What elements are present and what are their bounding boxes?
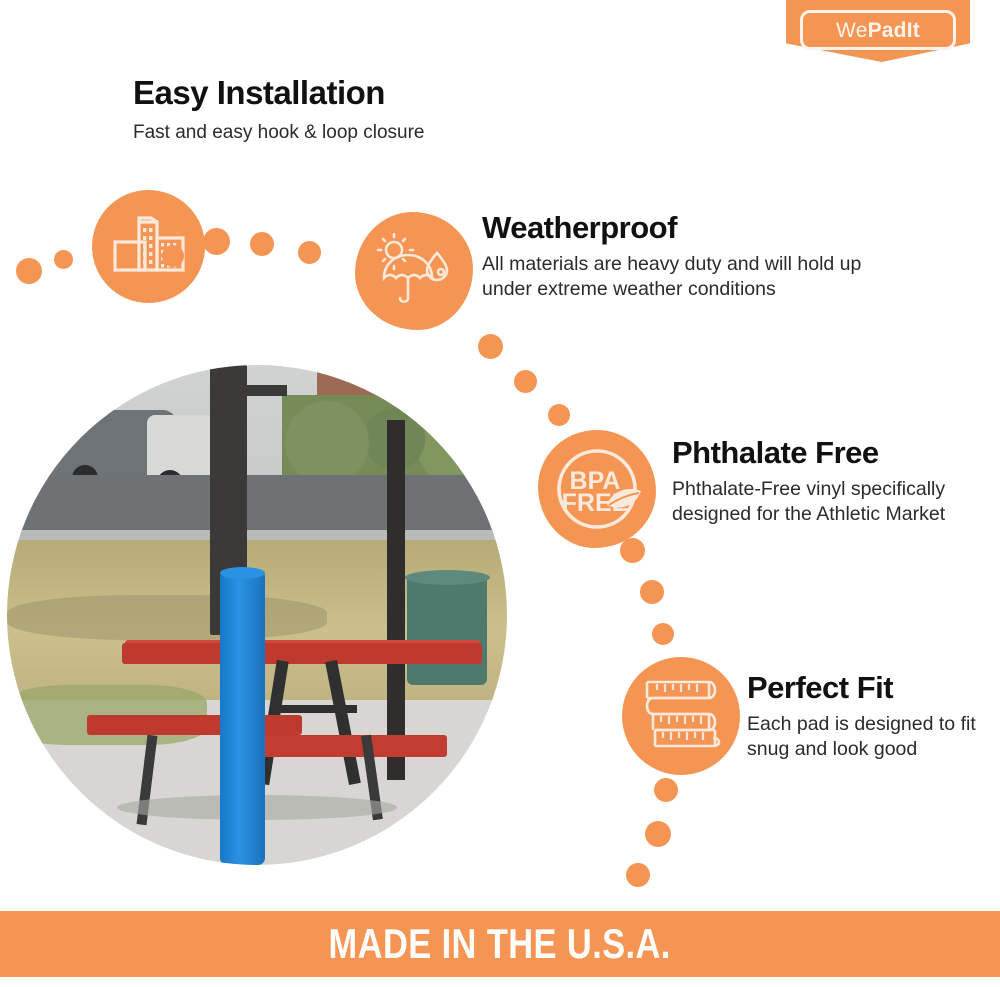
feature-title-phthalate-free: Phthalate Free — [672, 437, 972, 470]
trail-dot — [620, 538, 645, 563]
photo-right-post — [387, 420, 405, 780]
trail-dot — [250, 232, 274, 256]
photo-bench-right — [257, 735, 447, 757]
logo-text: WePadIt — [836, 20, 920, 41]
made-in-usa-banner: MADE IN THE U.S.A. — [0, 911, 1000, 977]
photo-blue-post-pad-top — [220, 567, 265, 579]
buildings-installation-icon — [92, 190, 205, 303]
logo-text-we: We — [836, 19, 868, 42]
photo-dirt-patch — [7, 595, 327, 640]
feature-title-perfect-fit: Perfect Fit — [747, 672, 977, 705]
logo-border-box: WePadIt — [800, 10, 956, 50]
feature-block-easy-installation: Easy Installation Fast and easy hook & l… — [133, 76, 553, 145]
trail-dot — [626, 863, 650, 887]
trail-dot — [54, 250, 73, 269]
trail-dot — [548, 404, 570, 426]
infographic-canvas: WePadIt Easy Installation Fast and easy … — [0, 0, 1000, 987]
trail-dot — [162, 245, 184, 267]
trail-dot — [514, 370, 537, 393]
trail-dot — [298, 241, 321, 264]
photo-bench-left — [87, 715, 302, 735]
feature-block-phthalate-free: Phthalate Free Phthalate-Free vinyl spec… — [672, 437, 972, 528]
trail-dot — [16, 258, 42, 284]
sun-umbrella-raindrop-icon — [355, 212, 473, 330]
trail-dot — [652, 623, 674, 645]
photo-trash-can-rim — [405, 570, 490, 585]
feature-body-phthalate-free: Phthalate-Free vinyl specifically design… — [672, 477, 972, 529]
trail-dot — [654, 778, 678, 802]
trail-dot — [640, 580, 664, 604]
feature-block-weatherproof: Weatherproof All materials are heavy dut… — [482, 212, 912, 303]
photo-blue-post-pad — [220, 570, 265, 865]
photo-road — [7, 475, 507, 535]
feature-block-perfect-fit: Perfect Fit Each pad is designed to fit … — [747, 672, 977, 763]
feature-body-easy-installation: Fast and easy hook & loop closure — [133, 120, 553, 145]
photo-table-brace — [277, 705, 357, 713]
logo-text-it: It — [907, 19, 920, 42]
trail-dot — [203, 228, 230, 255]
brand-logo[interactable]: WePadIt — [786, 0, 970, 62]
photo-pole-arm — [212, 385, 287, 396]
trail-dot — [645, 821, 671, 847]
photo-picnic-table-top — [122, 643, 482, 664]
measuring-tape-icon — [622, 657, 740, 775]
feature-title-weatherproof: Weatherproof — [482, 212, 912, 245]
feature-title-easy-installation: Easy Installation — [133, 76, 553, 111]
product-photo — [7, 365, 507, 865]
feature-body-perfect-fit: Each pad is designed to fit snug and loo… — [747, 712, 977, 764]
logo-text-pad: Pad — [868, 19, 907, 42]
made-in-usa-text: MADE IN THE U.S.A. — [329, 920, 671, 968]
trail-dot — [478, 334, 503, 359]
bpa-free-leaf-icon: BPA FREE — [538, 430, 656, 548]
feature-body-weatherproof: All materials are heavy duty and will ho… — [482, 252, 912, 304]
photo-trash-can — [407, 575, 487, 685]
